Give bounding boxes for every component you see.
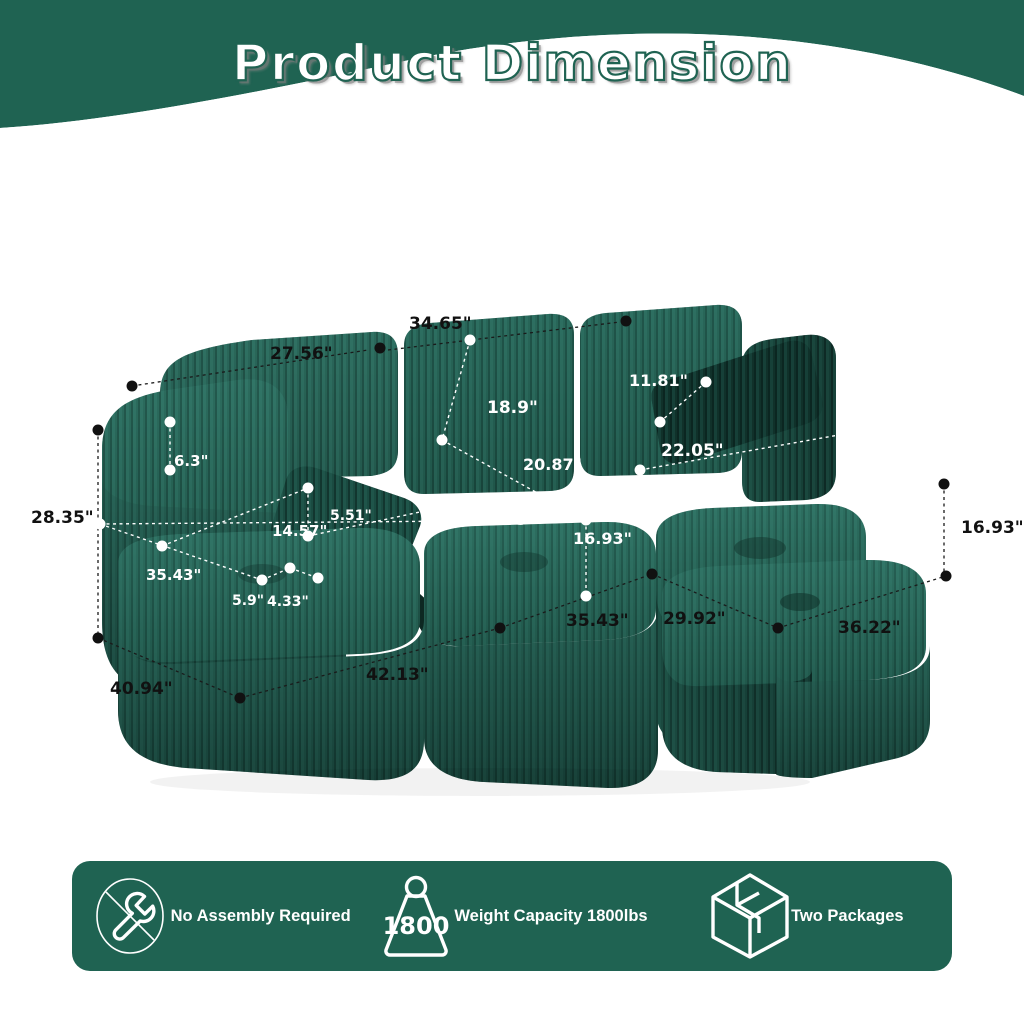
dimension-backrest-height: 18.9" — [487, 400, 538, 417]
feature-bar: No Assembly Required 1800 Weight Capacit… — [72, 861, 952, 971]
dimension-arm-pad-depth: 14.57" — [272, 524, 327, 539]
dimension-ottoman-height: 16.93" — [961, 520, 1024, 537]
dimension-backrest-left-top-width: 27.56" — [270, 346, 333, 363]
feature-weight-capacity: 1800 Weight Capacity 1800lbs — [365, 861, 658, 971]
dimension-arm-gap-b: 4.33" — [267, 595, 309, 609]
dimension-base-width-front: 42.13" — [366, 667, 429, 684]
feature-label: Two Packages — [791, 907, 904, 926]
dimension-armrest-pillow-height: 11.81" — [629, 373, 688, 389]
dimension-seat-depth-right: 22.05" — [661, 443, 724, 460]
weight-badge-value: 1800 — [383, 912, 450, 940]
dimension-overall-length: 90.55" — [473, 512, 536, 529]
dimension-ottoman-width: 36.22" — [838, 620, 901, 637]
dimension-ottoman-depth: 29.92" — [663, 611, 726, 628]
feature-label: No Assembly Required — [171, 907, 351, 926]
dimension-base-depth-left: 40.94" — [110, 681, 173, 698]
dimension-overall-height: 28.35" — [31, 510, 94, 527]
feature-no-assembly: No Assembly Required — [72, 861, 365, 971]
dimension-backrest-right-top-width: 34.65" — [409, 316, 472, 333]
dimension-chaise-depth: 35.43" — [566, 613, 629, 630]
weight-icon: 1800 — [376, 872, 456, 960]
product-illustration: 27.56"34.65"6.3"18.9"11.81"22.05"20.87"1… — [0, 150, 1024, 850]
product-dimension-page: Product Dimension — [0, 0, 1024, 1024]
dimension-side-pillow-thickness: 5.51" — [330, 509, 372, 523]
dimension-seat-depth-center: 20.87" — [523, 457, 582, 473]
box-icon — [707, 871, 793, 961]
feature-label: Weight Capacity 1800lbs — [454, 907, 647, 926]
page-title: Product Dimension — [0, 34, 1024, 92]
header-banner: Product Dimension — [0, 0, 1024, 150]
sectional-sofa-drawing — [0, 150, 1024, 850]
feature-two-packages: Two Packages — [659, 861, 952, 971]
dimension-seat-height-center: 16.93" — [573, 531, 632, 547]
dimension-arm-height: 6.3" — [174, 454, 208, 469]
dimension-arm-gap-a: 5.9" — [232, 594, 264, 608]
wrench-no-assembly-icon — [87, 873, 173, 959]
dimension-seat-width-left: 35.43" — [146, 568, 201, 583]
